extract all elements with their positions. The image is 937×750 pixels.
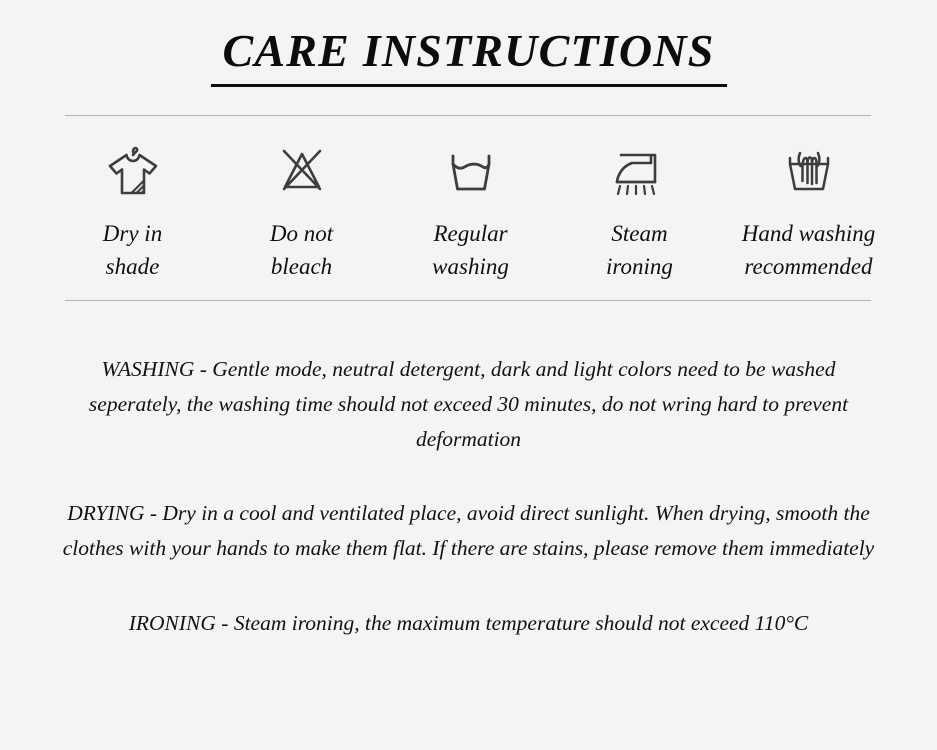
care-symbol-label: Do not bleach [270, 218, 333, 283]
care-symbol-label: Hand washing recommended [742, 218, 876, 283]
instruction-washing: WASHING - Gentle mode, neutral detergent… [40, 352, 897, 456]
do-not-bleach-icon [271, 140, 333, 202]
care-symbol-hand-washing: Hand washing recommended [724, 140, 893, 283]
instruction-drying: DRYING - Dry in a cool and ventilated pl… [40, 496, 897, 566]
dry-in-shade-icon [98, 140, 168, 202]
instructions-body: WASHING - Gentle mode, neutral detergent… [40, 352, 897, 641]
care-symbol-label: Steam ironing [606, 218, 673, 283]
instruction-ironing: IRONING - Steam ironing, the maximum tem… [40, 606, 897, 641]
care-symbol-row: Dry in shade Do not bleach Regular w [48, 140, 893, 283]
regular-washing-icon [440, 140, 502, 202]
page-title: CARE INSTRUCTIONS [222, 26, 714, 77]
care-symbol-do-not-bleach: Do not bleach [217, 140, 386, 283]
page-title-block: CARE INSTRUCTIONS [0, 26, 937, 87]
care-symbol-regular-washing: Regular washing [386, 140, 555, 283]
care-symbol-dry-in-shade: Dry in shade [48, 140, 217, 283]
care-symbol-steam-ironing: Steam ironing [555, 140, 724, 283]
hand-washing-icon [778, 140, 840, 202]
care-symbol-label: Regular washing [432, 218, 509, 283]
steam-ironing-icon [605, 140, 675, 202]
care-instructions-page: CARE INSTRUCTIONS Dry in shade [0, 0, 937, 750]
divider-top [65, 115, 871, 116]
title-underline [211, 84, 727, 87]
care-symbol-label: Dry in shade [103, 218, 162, 283]
divider-bottom [65, 300, 871, 301]
